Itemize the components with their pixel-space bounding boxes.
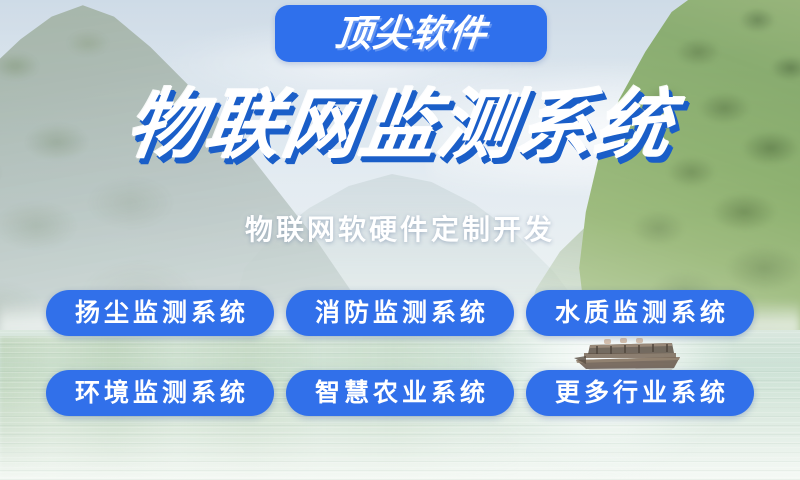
page-title: 物联网监测系统 — [0, 88, 800, 164]
pill-label: 智慧农业系统 — [311, 381, 489, 406]
page-subtitle: 物联网软硬件定制开发 — [0, 208, 800, 248]
pill-label: 消防监测系统 — [311, 301, 489, 326]
pill-label: 环境监测系统 — [71, 381, 249, 406]
pill-label: 更多行业系统 — [551, 381, 729, 406]
pill-environment-monitoring[interactable]: 环境监测系统 — [46, 370, 274, 416]
banner-content: 顶尖软件 物联网监测系统 物联网软硬件定制开发 扬尘监测系统 消防监测系统 水质… — [0, 0, 800, 480]
iot-monitoring-banner: 顶尖软件 物联网监测系统 物联网软硬件定制开发 扬尘监测系统 消防监测系统 水质… — [0, 0, 800, 480]
pill-label: 水质监测系统 — [551, 301, 729, 326]
system-pill-grid: 扬尘监测系统 消防监测系统 水质监测系统 环境监测系统 智慧农业系统 更多行业系… — [46, 290, 754, 416]
brand-badge-label: 顶尖软件 — [333, 15, 489, 52]
pill-smart-agriculture[interactable]: 智慧农业系统 — [286, 370, 514, 416]
brand-badge[interactable]: 顶尖软件 — [275, 5, 547, 62]
pill-label: 扬尘监测系统 — [71, 301, 249, 326]
pill-fire-monitoring[interactable]: 消防监测系统 — [286, 290, 514, 336]
pill-water-quality-monitoring[interactable]: 水质监测系统 — [526, 290, 754, 336]
pill-more-industry-systems[interactable]: 更多行业系统 — [526, 370, 754, 416]
pill-dust-monitoring[interactable]: 扬尘监测系统 — [46, 290, 274, 336]
